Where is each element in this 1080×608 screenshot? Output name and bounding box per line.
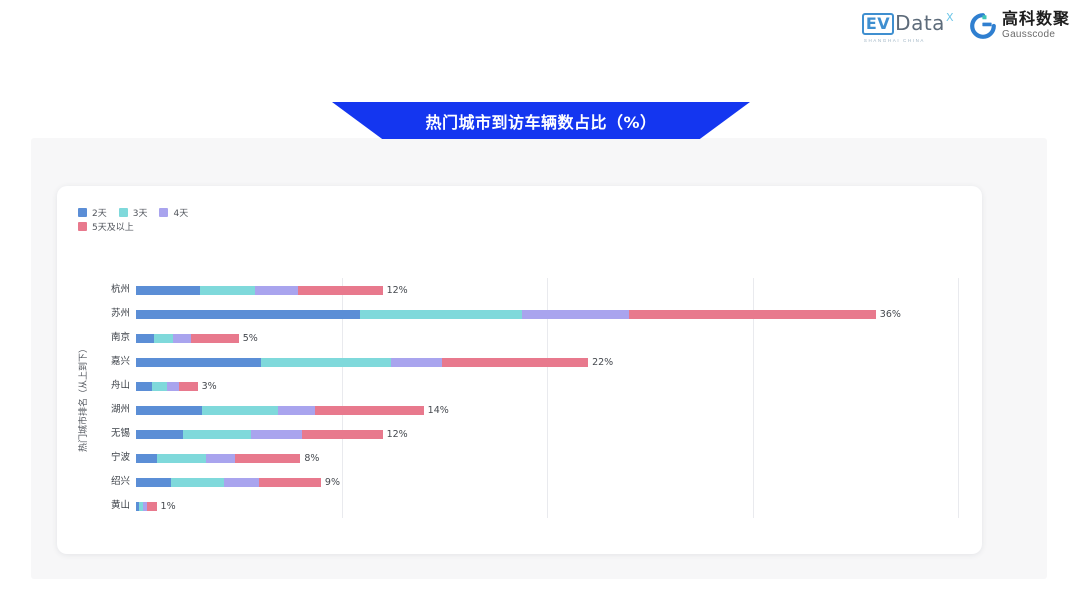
bar-segment[interactable] [202, 406, 278, 415]
bar-segment[interactable] [315, 406, 424, 415]
stacked-bar-wrapper: 36% [136, 310, 901, 319]
stacked-bar[interactable] [136, 454, 300, 463]
bar-segment[interactable] [183, 430, 251, 439]
chart-row[interactable]: 湖州14% [136, 398, 958, 422]
category-label: 湖州 [92, 398, 130, 422]
bar-segment[interactable] [136, 430, 183, 439]
chart-bars: 杭州12%苏州36%南京5%嘉兴22%舟山3%湖州14%无锡12%宁波8%绍兴9… [136, 278, 958, 518]
category-label: 南京 [92, 326, 130, 350]
category-label: 黄山 [92, 494, 130, 518]
evdata-suffix: Data [895, 13, 945, 33]
stacked-bar-wrapper: 1% [136, 502, 176, 511]
legend-label: 3天 [133, 206, 148, 219]
bar-value-label: 14% [428, 406, 449, 415]
evdata-wordmark: EV Data X [862, 13, 954, 35]
chart-row[interactable]: 嘉兴22% [136, 350, 958, 374]
stacked-bar[interactable] [136, 406, 424, 415]
stacked-bar-wrapper: 12% [136, 286, 408, 295]
bar-segment[interactable] [360, 310, 522, 319]
bar-segment[interactable] [136, 310, 360, 319]
category-label: 绍兴 [92, 470, 130, 494]
bar-segment[interactable] [136, 382, 152, 391]
gausscode-logo: 高科数聚 Gausscode [970, 11, 1070, 40]
bar-segment[interactable] [442, 358, 588, 367]
legend-swatch-icon [159, 208, 168, 217]
legend-item[interactable]: 4天 [159, 205, 188, 219]
bar-segment[interactable] [255, 286, 298, 295]
bar-segment[interactable] [157, 454, 206, 463]
bar-segment[interactable] [522, 310, 629, 319]
category-label: 苏州 [92, 302, 130, 326]
bar-segment[interactable] [136, 454, 157, 463]
chart-row[interactable]: 苏州36% [136, 302, 958, 326]
bar-value-label: 22% [592, 358, 613, 367]
gausscode-english: Gausscode [1002, 30, 1070, 40]
stacked-bar-wrapper: 8% [136, 454, 319, 463]
stacked-bar-wrapper: 9% [136, 478, 340, 487]
bar-value-label: 12% [387, 286, 408, 295]
gausscode-wordmark: 高科数聚 Gausscode [1002, 11, 1070, 40]
chart-row[interactable]: 南京5% [136, 326, 958, 350]
bar-value-label: 12% [387, 430, 408, 439]
category-label: 宁波 [92, 446, 130, 470]
bar-segment[interactable] [152, 382, 166, 391]
bar-segment[interactable] [629, 310, 876, 319]
stacked-bar[interactable] [136, 286, 383, 295]
bar-segment[interactable] [136, 406, 202, 415]
stacked-bar[interactable] [136, 310, 876, 319]
legend-item[interactable]: 3天 [119, 205, 148, 219]
stacked-bar-wrapper: 12% [136, 430, 408, 439]
bar-segment[interactable] [261, 358, 390, 367]
bar-segment[interactable] [136, 334, 154, 343]
stacked-bar[interactable] [136, 358, 588, 367]
bar-segment[interactable] [224, 478, 259, 487]
stacked-bar[interactable] [136, 382, 198, 391]
evdata-superscript-icon: X [946, 12, 954, 23]
bar-segment[interactable] [302, 430, 382, 439]
evdata-subtitle: SHANGHAI CHINA [862, 38, 954, 43]
chart-row[interactable]: 绍兴9% [136, 470, 958, 494]
chart-row[interactable]: 黄山1% [136, 494, 958, 518]
stacked-bar[interactable] [136, 502, 157, 511]
bar-segment[interactable] [259, 478, 321, 487]
bar-segment[interactable] [200, 286, 255, 295]
bar-segment[interactable] [136, 478, 171, 487]
bar-segment[interactable] [251, 430, 302, 439]
legend-swatch-icon [119, 208, 128, 217]
category-label: 舟山 [92, 374, 130, 398]
gausscode-chinese: 高科数聚 [1002, 9, 1070, 28]
bar-segment[interactable] [154, 334, 172, 343]
chart-row[interactable]: 无锡12% [136, 422, 958, 446]
category-label: 杭州 [92, 278, 130, 302]
stacked-bar[interactable] [136, 478, 321, 487]
bar-segment[interactable] [206, 454, 235, 463]
chart-row[interactable]: 杭州12% [136, 278, 958, 302]
legend-label: 4天 [173, 206, 188, 219]
chart-row[interactable]: 宁波8% [136, 446, 958, 470]
category-label: 无锡 [92, 422, 130, 446]
page-title: 热门城市到访车辆数占比（%） [425, 109, 656, 133]
logo-group: EV Data X SHANGHAI CHINA 高科数聚 Gausscode [862, 11, 1070, 43]
evdata-logo: EV Data X SHANGHAI CHINA [862, 11, 954, 43]
bar-segment[interactable] [173, 334, 191, 343]
y-axis-title: 热门城市排名（从上到下） [76, 158, 90, 318]
title-banner: 热门城市到访车辆数占比（%） [332, 102, 750, 139]
bar-segment[interactable] [235, 454, 301, 463]
bar-segment[interactable] [147, 502, 156, 511]
bar-segment[interactable] [179, 382, 197, 391]
bar-segment[interactable] [391, 358, 442, 367]
bar-segment[interactable] [278, 406, 315, 415]
page-header: EV Data X SHANGHAI CHINA 高科数聚 Gausscode [0, 0, 1080, 58]
evdata-prefix: EV [862, 13, 894, 35]
bar-value-label: 8% [304, 454, 319, 463]
chart-legend: 2天3天4天5天及以上 [78, 205, 338, 233]
bar-value-label: 1% [161, 502, 176, 511]
bar-segment[interactable] [171, 478, 224, 487]
bar-segment[interactable] [167, 382, 179, 391]
stacked-bar-wrapper: 14% [136, 406, 449, 415]
chart-row[interactable]: 舟山3% [136, 374, 958, 398]
bar-value-label: 3% [202, 382, 217, 391]
bar-segment[interactable] [191, 334, 238, 343]
chart-plot-area: 热门城市排名（从上到下） 杭州12%苏州36%南京5%嘉兴22%舟山3%湖州14… [78, 278, 958, 518]
stacked-bar-wrapper: 5% [136, 334, 258, 343]
stacked-bar-wrapper: 3% [136, 382, 217, 391]
bar-value-label: 9% [325, 478, 340, 487]
bar-value-label: 5% [243, 334, 258, 343]
gausscode-mark-icon [970, 13, 996, 39]
stacked-bar[interactable] [136, 334, 239, 343]
bar-segment[interactable] [136, 358, 261, 367]
stacked-bar-wrapper: 22% [136, 358, 613, 367]
legend-label: 5天及以上 [92, 220, 134, 233]
legend-label: 2天 [92, 206, 107, 219]
stacked-bar[interactable] [136, 430, 383, 439]
category-label: 嘉兴 [92, 350, 130, 374]
gridline [958, 278, 959, 518]
bar-value-label: 36% [880, 310, 901, 319]
bar-segment[interactable] [298, 286, 382, 295]
bar-segment[interactable] [136, 286, 200, 295]
